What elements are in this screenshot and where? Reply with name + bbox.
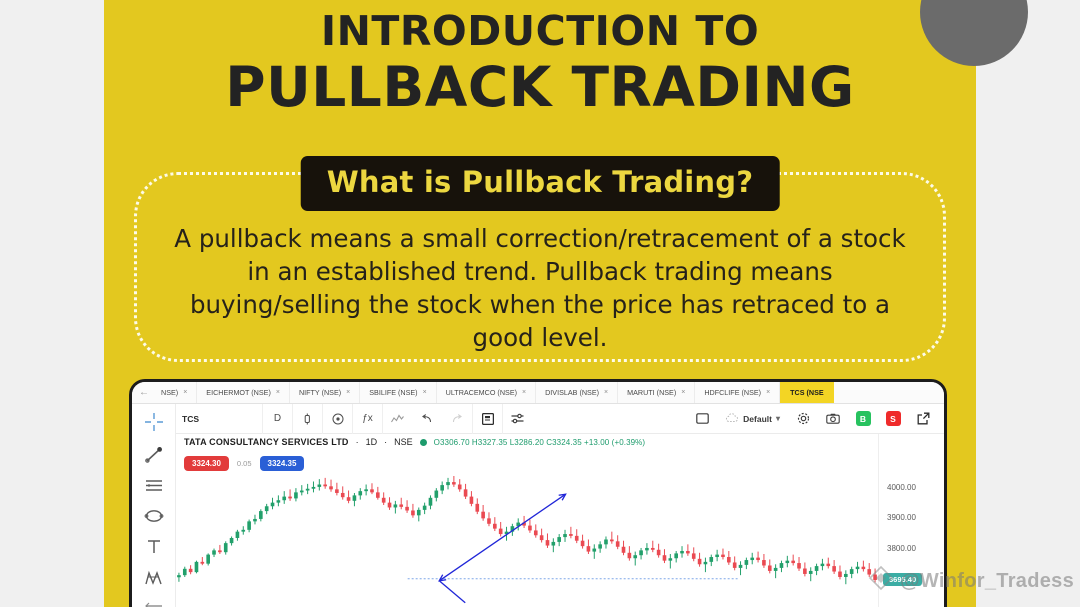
measure-icon[interactable] (143, 600, 165, 607)
watermark-handle: @Winfor_Tradess (900, 570, 1074, 593)
shapes-icon[interactable] (143, 508, 165, 524)
symbol-tab-2[interactable]: NIFTY (NSE) × (290, 382, 360, 404)
chart-toolbar: TCS D ƒx (132, 404, 944, 434)
symbol-name: TATA CONSULTANCY SERVICES LTD (184, 437, 349, 447)
tab-close-icon[interactable]: × (423, 389, 427, 396)
price-axis-label-2: 3800.00 (887, 544, 916, 553)
bid-ask-chips: 3324.30 0.05 3324.35 (184, 456, 304, 471)
symbol-sep: · (356, 437, 359, 447)
symbol-tab-1[interactable]: EICHERMOT (NSE) × (197, 382, 290, 404)
symbol-tab-0[interactable]: NSE) × (152, 382, 197, 404)
tab-label: SBILIFE (NSE) (369, 388, 417, 397)
symbol-tab-4[interactable]: ULTRACEMCO (NSE) × (437, 382, 536, 404)
symbol-tab-bar: ← NSE) × EICHERMOT (NSE) × NIFTY (NSE) ×… (132, 382, 944, 404)
tab-close-icon[interactable]: × (522, 389, 526, 396)
symbol-sep2: · (384, 437, 387, 447)
share-icon[interactable] (908, 404, 938, 434)
back-arrow-icon[interactable]: ← (136, 387, 152, 398)
sliders-icon[interactable] (502, 404, 532, 434)
trendline-icon[interactable] (143, 446, 165, 464)
sell-button[interactable]: S (878, 404, 908, 434)
price-axis-label-0: 4000.00 (887, 483, 916, 492)
tab-label: ULTRACEMCO (NSE) (446, 388, 517, 397)
ohlc-readout: O3306.70 H3327.35 L3286.20 C3324.35 +13.… (434, 438, 646, 447)
layout-icon[interactable] (687, 404, 717, 434)
buy-label: B (856, 411, 871, 426)
sell-label: S (886, 411, 901, 426)
tab-label: NSE) (161, 388, 178, 397)
horizontal-lines-icon[interactable] (143, 478, 165, 494)
tab-close-icon[interactable]: × (276, 389, 280, 396)
candle-type-icon[interactable] (292, 404, 322, 434)
tab-close-icon[interactable]: × (681, 389, 685, 396)
layout-preset-label: Default (743, 414, 772, 424)
page-title-line2: PULLBACK TRADING (104, 57, 976, 118)
cloud-icon (725, 413, 739, 425)
tab-close-icon[interactable]: × (346, 389, 350, 396)
undo-icon[interactable] (412, 404, 442, 434)
crosshair-icon[interactable] (143, 412, 165, 432)
buy-button[interactable]: B (848, 404, 878, 434)
symbol-tab-7[interactable]: HDFCLIFE (NSE) × (695, 382, 780, 404)
chart-pane[interactable]: TATA CONSULTANCY SERVICES LTD · 1D · NSE… (176, 434, 944, 607)
definition-paragraph: A pullback means a small correction/retr… (164, 222, 916, 354)
symbol-header: TATA CONSULTANCY SERVICES LTD · 1D · NSE… (184, 437, 645, 447)
symbol-exchange: NSE (394, 437, 413, 447)
screenshot-root: INTRODUCTION TO PULLBACK TRADING What is… (0, 0, 1080, 607)
spread-value: 0.05 (237, 459, 252, 468)
ask-price-chip[interactable]: 3324.35 (260, 456, 305, 471)
symbol-tab-active-tcs[interactable]: TCS (NSE (780, 382, 834, 404)
poster-title-block: INTRODUCTION TO PULLBACK TRADING (104, 8, 976, 118)
symbol-tab-5[interactable]: DIVISLAB (NSE) × (536, 382, 618, 404)
bid-price-chip[interactable]: 3324.30 (184, 456, 229, 471)
redo-icon[interactable] (442, 404, 472, 434)
toolbar-symbol[interactable]: TCS (178, 414, 262, 424)
tab-label: EICHERMOT (NSE) (206, 388, 271, 397)
tab-label: NIFTY (NSE) (299, 388, 341, 397)
trading-chart-window: ← NSE) × EICHERMOT (NSE) × NIFTY (NSE) ×… (129, 379, 947, 607)
symbol-tab-6[interactable]: MARUTI (NSE) × (618, 382, 695, 404)
diamond-logo-icon (868, 565, 894, 597)
compare-icon[interactable] (382, 404, 412, 434)
template-icon[interactable] (472, 404, 502, 434)
symbol-tab-3[interactable]: SBILIFE (NSE) × (360, 382, 436, 404)
layout-preset-selector[interactable]: Default ▾ (717, 413, 788, 425)
pattern-icon[interactable] (143, 570, 165, 586)
market-status-dot (420, 439, 427, 446)
symbol-interval: 1D (366, 437, 378, 447)
fx-button[interactable]: ƒx (352, 404, 382, 434)
text-icon[interactable] (143, 538, 165, 556)
page-title-line1: INTRODUCTION TO (104, 8, 976, 55)
tab-label: HDFCLIFE (NSE) (704, 388, 761, 397)
price-axis-label-1: 3900.00 (887, 513, 916, 522)
tab-close-icon[interactable]: × (183, 389, 187, 396)
tab-label: TCS (NSE (790, 388, 824, 397)
gear-icon[interactable] (788, 404, 818, 434)
question-banner: What is Pullback Trading? (301, 156, 780, 211)
tab-label: MARUTI (NSE) (627, 388, 676, 397)
toolbar-right-group: Default ▾ B S (687, 404, 944, 434)
interval-button[interactable]: D (262, 404, 292, 434)
drawing-tools-rail (132, 404, 176, 607)
tab-close-icon[interactable]: × (604, 389, 608, 396)
tab-label: DIVISLAB (NSE) (545, 388, 599, 397)
camera-icon[interactable] (818, 404, 848, 434)
watermark: @Winfor_Tradess (868, 565, 1074, 597)
tab-close-icon[interactable]: × (766, 389, 770, 396)
indicators-icon[interactable] (322, 404, 352, 434)
chevron-down-icon[interactable]: ▾ (776, 414, 780, 423)
